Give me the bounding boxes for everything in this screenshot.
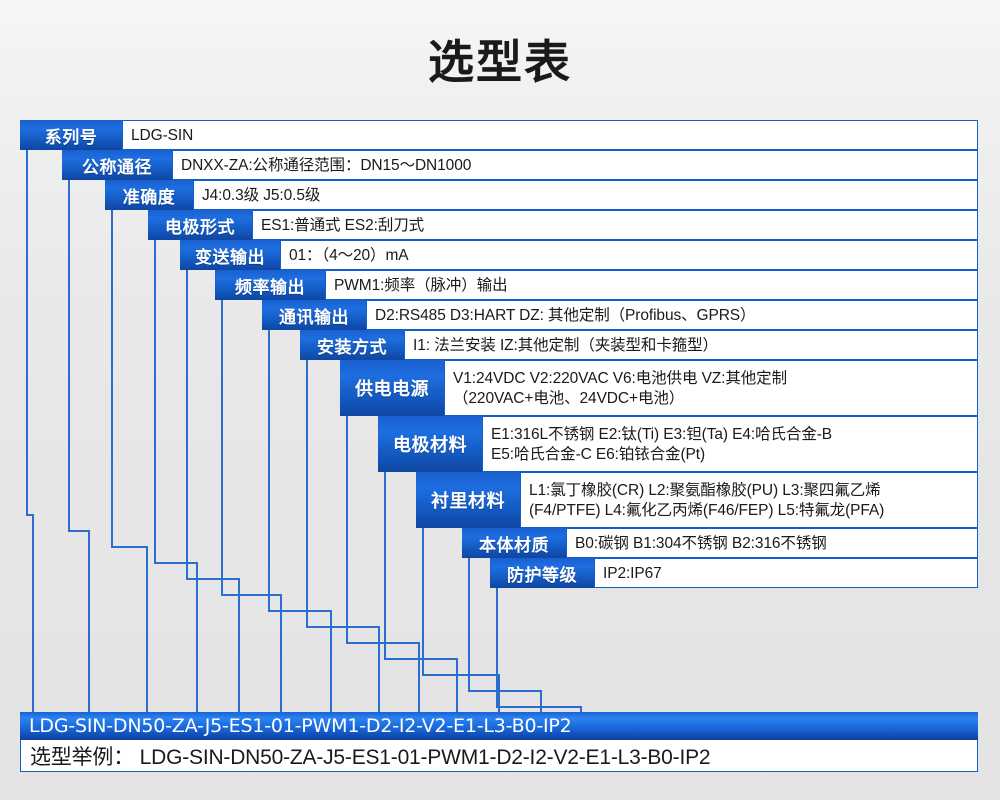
option-value-line: DNXX-ZA:公称通径范围：DN15～DN1000	[181, 156, 977, 176]
connector-vertical-11	[422, 528, 424, 674]
option-value-9: V1:24VDC V2:220VAC V6:电池供电 VZ:其他定制（220VA…	[444, 360, 978, 416]
connector-vertical-5	[186, 270, 188, 578]
option-label-10: 电极材料	[378, 416, 482, 472]
option-value-7: D2:RS485 D3:HART DZ: 其他定制（Profibus、GPRS）	[366, 300, 978, 330]
option-label-3: 准确度	[105, 180, 193, 210]
connector-vertical-7	[268, 330, 270, 610]
option-value-5: 01：（4～20）mA	[280, 240, 978, 270]
connector-horizontal-6	[221, 594, 280, 596]
connector-horizontal-12	[468, 690, 540, 692]
option-value-13: IP2:IP67	[594, 558, 978, 588]
connector-vertical-6	[221, 300, 223, 594]
connector-vertical-1	[26, 150, 28, 514]
option-label-12: 本体材质	[462, 528, 566, 558]
option-label-9: 供电电源	[340, 360, 444, 416]
connector-stub-12	[540, 690, 542, 712]
connector-stub-10	[456, 658, 458, 712]
option-label-2: 公称通径	[62, 150, 172, 180]
option-label-4: 电极形式	[148, 210, 252, 240]
option-value-line: LDG-SIN	[131, 126, 977, 146]
option-value-2: DNXX-ZA:公称通径范围：DN15～DN1000	[172, 150, 978, 180]
connector-vertical-3	[111, 210, 113, 546]
connector-horizontal-2	[68, 530, 88, 532]
connector-vertical-2	[68, 180, 70, 530]
connector-horizontal-11	[422, 674, 498, 676]
option-value-line: IP2:IP67	[603, 564, 977, 584]
option-value-8: I1: 法兰安装 IZ:其他定制（夹装型和卡箍型）	[404, 330, 978, 360]
connector-vertical-12	[468, 558, 470, 690]
connector-vertical-8	[306, 360, 308, 626]
connector-horizontal-3	[111, 546, 146, 548]
option-value-line: I1: 法兰安装 IZ:其他定制（夹装型和卡箍型）	[413, 336, 977, 356]
option-value-line: V1:24VDC V2:220VAC V6:电池供电 VZ:其他定制	[453, 369, 977, 389]
option-value-line: PWM1:频率（脉冲）输出	[334, 276, 977, 296]
option-value-line: J4:0.3级 J5:0.5级	[202, 186, 977, 206]
option-value-6: PWM1:频率（脉冲）输出	[325, 270, 978, 300]
connector-stub-5	[238, 578, 240, 712]
connector-horizontal-13	[496, 706, 580, 708]
connector-stub-3	[146, 546, 148, 712]
connector-horizontal-8	[306, 626, 378, 628]
result-code-bar: LDG-SIN-DN50-ZA-J5-ES1-01-PWM1-D2-I2-V2-…	[20, 712, 978, 740]
connector-horizontal-5	[186, 578, 238, 580]
option-value-line: D2:RS485 D3:HART DZ: 其他定制（Profibus、GPRS）	[375, 306, 977, 326]
option-label-1: 系列号	[20, 120, 122, 150]
option-label-7: 通讯输出	[262, 300, 366, 330]
connector-horizontal-4	[154, 562, 196, 564]
connector-horizontal-10	[384, 658, 456, 660]
option-label-13: 防护等级	[490, 558, 594, 588]
option-value-line: (F4/PTFE) L4:氟化乙丙烯(F46/FEP) L5:特氟龙(PFA)	[529, 501, 977, 521]
option-value-12: B0:碳钢 B1:304不锈钢 B2:316不锈钢	[566, 528, 978, 558]
connector-stub-2	[88, 530, 90, 712]
connector-vertical-9	[346, 416, 348, 642]
connector-vertical-10	[384, 472, 386, 658]
option-value-line: E5:哈氏合金-C E6:铂铱合金(Pt)	[491, 445, 977, 465]
connector-vertical-4	[154, 240, 156, 562]
option-label-11: 衬里材料	[416, 472, 520, 528]
option-value-3: J4:0.3级 J5:0.5级	[193, 180, 978, 210]
option-label-6: 频率输出	[215, 270, 325, 300]
option-label-5: 变送输出	[180, 240, 280, 270]
selection-table: LDG-SIN系列号DNXX-ZA:公称通径范围：DN15～DN1000公称通径…	[0, 0, 1000, 800]
option-value-line: （220VAC+电池、24VDC+电池）	[453, 389, 977, 409]
option-value-line: B0:碳钢 B1:304不锈钢 B2:316不锈钢	[575, 534, 977, 554]
connector-stub-9	[418, 642, 420, 712]
result-example-bar: 选型举例： LDG-SIN-DN50-ZA-J5-ES1-01-PWM1-D2-…	[20, 740, 978, 772]
connector-stub-1	[32, 514, 34, 712]
option-label-8: 安装方式	[300, 330, 404, 360]
connector-stub-4	[196, 562, 198, 712]
connector-horizontal-9	[346, 642, 418, 644]
option-value-11: L1:氯丁橡胶(CR) L2:聚氨酯橡胶(PU) L3:聚四氟乙烯(F4/PTF…	[520, 472, 978, 528]
connector-horizontal-7	[268, 610, 330, 612]
option-value-line: E1:316L不锈钢 E2:钛(Ti) E3:钽(Ta) E4:哈氏合金-B	[491, 425, 977, 445]
connector-vertical-13	[496, 588, 498, 706]
option-value-10: E1:316L不锈钢 E2:钛(Ti) E3:钽(Ta) E4:哈氏合金-BE5…	[482, 416, 978, 472]
option-value-4: ES1:普通式 ES2:刮刀式	[252, 210, 978, 240]
connector-stub-8	[378, 626, 380, 712]
option-value-line: L1:氯丁橡胶(CR) L2:聚氨酯橡胶(PU) L3:聚四氟乙烯	[529, 481, 977, 501]
option-value-1: LDG-SIN	[122, 120, 978, 150]
option-value-line: 01：（4～20）mA	[289, 246, 977, 266]
option-value-line: ES1:普通式 ES2:刮刀式	[261, 216, 977, 236]
